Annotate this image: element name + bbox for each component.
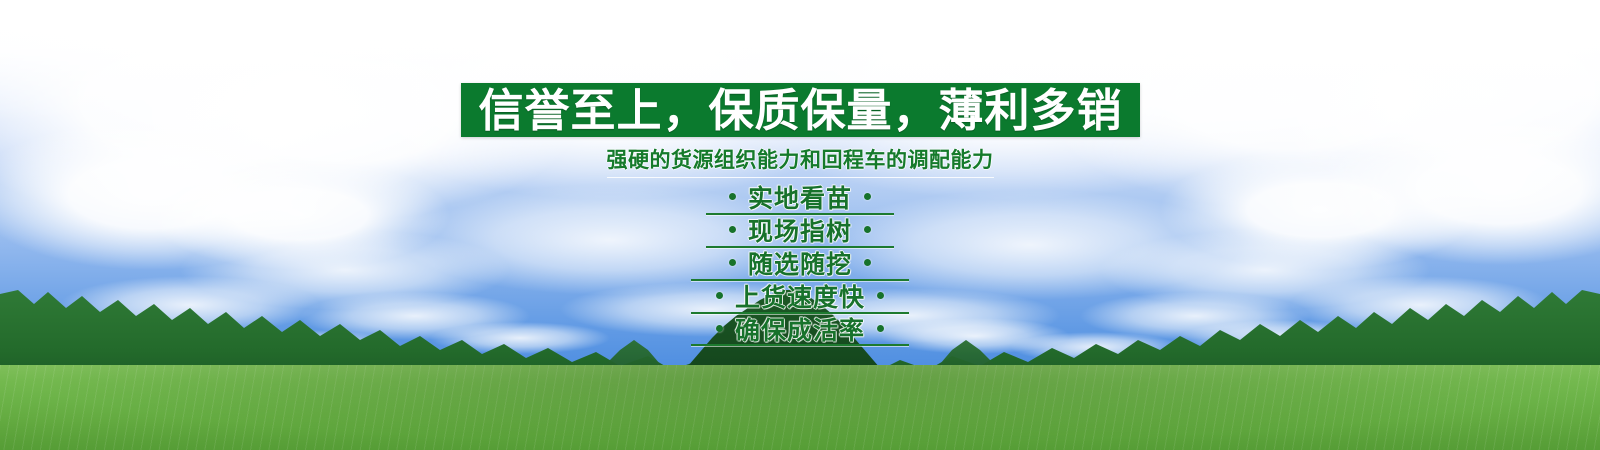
feature-item[interactable]: 确保成活率 bbox=[669, 312, 931, 345]
subtitle-container: 强硬的货源组织能力和回程车的调配能力 bbox=[0, 144, 1600, 178]
dot-icon bbox=[729, 193, 736, 200]
dot-icon bbox=[729, 259, 736, 266]
feature-item[interactable]: 上货速度快 bbox=[669, 279, 931, 312]
subtitle-text: 强硬的货源组织能力和回程车的调配能力 bbox=[607, 144, 994, 178]
green-field bbox=[0, 365, 1600, 450]
feature-label: 确保成活率 bbox=[723, 311, 877, 347]
feature-item[interactable]: 实地看苗 bbox=[684, 180, 916, 213]
feature-label: 随选随挖 bbox=[736, 245, 864, 281]
dot-icon bbox=[864, 259, 871, 266]
feature-item[interactable]: 现场指树 bbox=[684, 213, 916, 246]
feature-item[interactable]: 随选随挖 bbox=[684, 246, 916, 279]
feature-label: 现场指树 bbox=[736, 212, 864, 248]
dot-icon bbox=[877, 292, 884, 299]
dot-icon bbox=[729, 226, 736, 233]
dot-icon bbox=[864, 193, 871, 200]
feature-label: 上货速度快 bbox=[723, 278, 877, 314]
feature-label: 实地看苗 bbox=[736, 179, 864, 215]
dot-icon bbox=[716, 325, 723, 332]
dot-icon bbox=[864, 226, 871, 233]
promo-banner: 信誉至上，保质保量，薄利多销 强硬的货源组织能力和回程车的调配能力 实地看苗 现… bbox=[0, 0, 1600, 450]
dot-icon bbox=[716, 292, 723, 299]
field-shading bbox=[0, 365, 1600, 450]
feature-list: 实地看苗 现场指树 随选随挖 上货速度快 确保成活率 bbox=[0, 180, 1600, 345]
dot-icon bbox=[877, 325, 884, 332]
headline-banner[interactable]: 信誉至上，保质保量，薄利多销 bbox=[461, 83, 1140, 137]
headline-text: 信誉至上，保质保量，薄利多销 bbox=[478, 88, 1122, 133]
